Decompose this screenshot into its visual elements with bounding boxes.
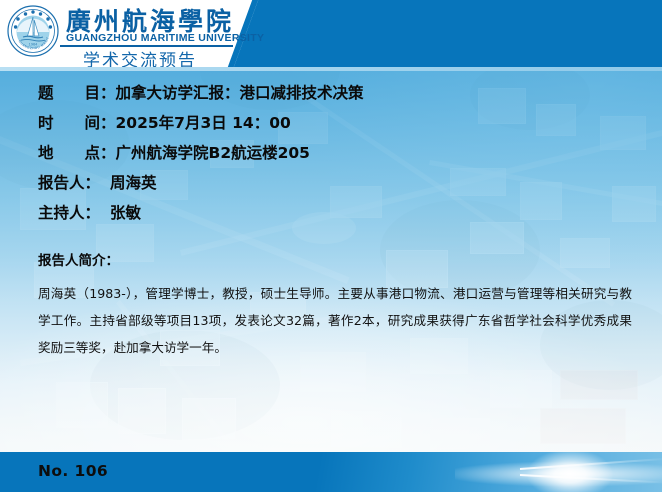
- info-value-speaker: 周海英: [110, 171, 157, 193]
- university-name-en: GUANGZHOU MARITIME UNIVERSITY: [66, 32, 264, 44]
- seminar-info-list: 题 目： 加拿大访学汇报：港口减排技术决策 时 间： 2025年7月3日 14：…: [38, 81, 364, 231]
- poster-footer-bar: No. 106: [0, 452, 662, 492]
- info-value-location: 广州航海学院B2航运楼205: [116, 141, 310, 163]
- speaker-bio-title: 报告人简介：: [38, 249, 632, 269]
- poster-header: 1964 GUANGZHOU MARITIME UNIVERSITY 廣州航海學…: [0, 0, 662, 67]
- info-row-title: 题 目： 加拿大访学汇报：港口减排技术决策: [38, 81, 364, 111]
- light-burst-decoration: [455, 452, 662, 492]
- info-label-title: 题 目：: [38, 81, 116, 103]
- header-blue-panel: [232, 0, 662, 67]
- info-value-host: 张敏: [110, 201, 141, 223]
- info-value-time: 2025年7月3日 14：00: [116, 111, 291, 133]
- info-label-host: 主持人：: [38, 201, 110, 223]
- poster-subtitle: 学术交流预告: [83, 46, 197, 67]
- speaker-bio-block: 报告人简介： 周海英（1983-），管理学博士，教授，硕士生导师。主要从事港口物…: [38, 249, 632, 361]
- info-row-host: 主持人： 张敏: [38, 201, 364, 231]
- issue-number: No. 106: [38, 462, 108, 480]
- info-label-time: 时 间：: [38, 111, 116, 133]
- info-row-time: 时 间： 2025年7月3日 14：00: [38, 111, 364, 141]
- info-label-speaker: 报告人：: [38, 171, 110, 193]
- svg-text:1964: 1964: [29, 43, 38, 47]
- seminar-poster: 1964 GUANGZHOU MARITIME UNIVERSITY 廣州航海學…: [0, 0, 662, 492]
- info-label-location: 地 点：: [38, 141, 116, 163]
- info-row-location: 地 点： 广州航海学院B2航运楼205: [38, 141, 364, 171]
- sailboat-emblem-icon: 1964 GUANGZHOU MARITIME UNIVERSITY: [7, 5, 59, 57]
- speaker-bio-text: 周海英（1983-），管理学博士，教授，硕士生导师。主要从事港口物流、港口运营与…: [38, 280, 632, 361]
- info-row-speaker: 报告人： 周海英: [38, 171, 364, 201]
- info-value-title: 加拿大访学汇报：港口减排技术决策: [116, 81, 364, 103]
- poster-content: 题 目： 加拿大访学汇报：港口减排技术决策 时 间： 2025年7月3日 14：…: [0, 71, 662, 451]
